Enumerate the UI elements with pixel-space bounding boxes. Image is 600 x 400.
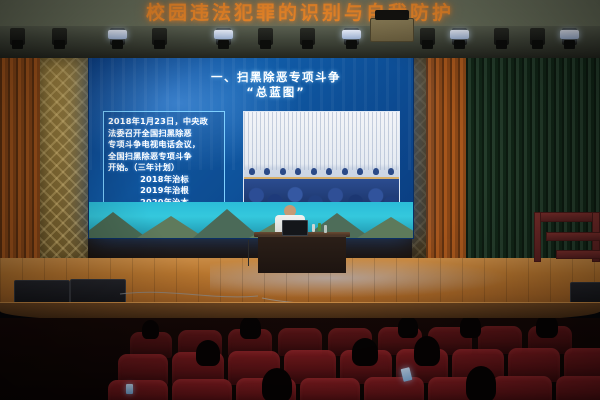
slide-body-line4: 全国扫黑除恶专项斗争 <box>108 151 221 163</box>
photo-seated-official <box>280 168 286 175</box>
audience-member-head <box>196 340 220 366</box>
audience-seat <box>492 376 552 400</box>
slide-body-line3: 专项斗争电视电话会议， <box>108 139 221 151</box>
stage-light-fixture <box>152 28 167 45</box>
audience-seat <box>556 376 600 400</box>
audience-member-head <box>240 318 261 339</box>
photo-seated-official <box>264 168 270 175</box>
stage-light-fixture <box>530 28 545 45</box>
audience-member-head <box>536 318 558 338</box>
audience-area <box>0 318 600 400</box>
ceiling-truss-area: 校园违法犯罪的识别与自我防护 <box>0 0 600 58</box>
stage-light-fixture <box>420 28 435 45</box>
audience-phone-screen-2 <box>126 384 133 394</box>
choir-riser-leg <box>534 212 541 262</box>
photo-head-table-row <box>244 168 399 175</box>
slide-body-line5: 开始。（三年计划） <box>108 162 221 174</box>
audience-seat <box>364 377 424 400</box>
audience-member-head <box>466 366 496 400</box>
audience-member-head <box>460 318 481 338</box>
photo-backdrop-drape <box>244 112 399 170</box>
photo-seated-official <box>373 168 379 175</box>
photo-seated-official <box>326 168 332 175</box>
audience-seat <box>300 378 360 400</box>
slide-title-line1: 一、扫黑除恶专项斗争 <box>211 70 341 84</box>
photo-seated-official <box>295 168 301 175</box>
water-bottle <box>318 223 321 231</box>
laptop <box>282 220 308 236</box>
audience-member-head <box>262 368 292 400</box>
stage-light-fixture <box>258 28 273 45</box>
slide-title-line2: “总蓝图” <box>145 85 407 100</box>
audience-member-head <box>398 318 418 338</box>
projector-unit <box>370 18 414 42</box>
photo-seated-official <box>388 168 394 175</box>
slide-mountain-graphic <box>89 202 413 238</box>
projection-screen: 一、扫黑除恶专项斗争 “总蓝图” 2018年1月23日，中央政 法委召开全国扫黑… <box>88 57 414 239</box>
photo-seated-official <box>249 168 255 175</box>
curtain-right-orange <box>426 58 468 263</box>
choir-riser-top <box>534 212 600 222</box>
choir-riser-middle <box>546 232 600 241</box>
photo-seated-official <box>311 168 317 175</box>
slide-body-line7: 2019年治根 <box>108 185 221 197</box>
stage-light-fixture <box>52 28 67 45</box>
photo-seated-official <box>357 168 363 175</box>
water-bottle <box>312 224 315 232</box>
photo-seated-official <box>342 168 348 175</box>
curtain-far-left <box>0 58 40 260</box>
audience-member-head <box>414 336 440 366</box>
stage-light-fixture <box>452 28 467 45</box>
slide-title: 一、扫黑除恶专项斗争 “总蓝图” <box>145 70 407 100</box>
stage-light-fixture <box>344 28 359 45</box>
auditorium-lecture-photo: 一、扫黑除恶专项斗争 “总蓝图” 2018年1月23日，中央政 法委召开全国扫黑… <box>0 0 600 400</box>
gold-lattice-panel-left <box>38 58 88 263</box>
slide-body-line1: 2018年1月23日，中央政 <box>108 116 221 128</box>
audience-seat <box>108 380 168 400</box>
mountain-peak <box>357 217 414 238</box>
stage-light-fixture <box>216 28 231 45</box>
slide-body-line2: 法委召开全国扫黑除恶 <box>108 128 221 140</box>
audience-member-head <box>352 338 378 366</box>
stage-light-fixture <box>300 28 315 45</box>
audience-seat <box>172 379 232 400</box>
audience-member-head <box>142 320 159 339</box>
stage-light-fixture <box>110 28 125 45</box>
event-banner-text: 校园违法犯罪的识别与自我防护 <box>0 0 600 24</box>
water-bottle <box>324 225 327 233</box>
stage-light-fixture <box>10 28 25 45</box>
stage-light-fixture <box>494 28 509 45</box>
slide-body-line6: 2018年治标 <box>108 174 221 186</box>
stage-light-fixture <box>562 28 577 45</box>
